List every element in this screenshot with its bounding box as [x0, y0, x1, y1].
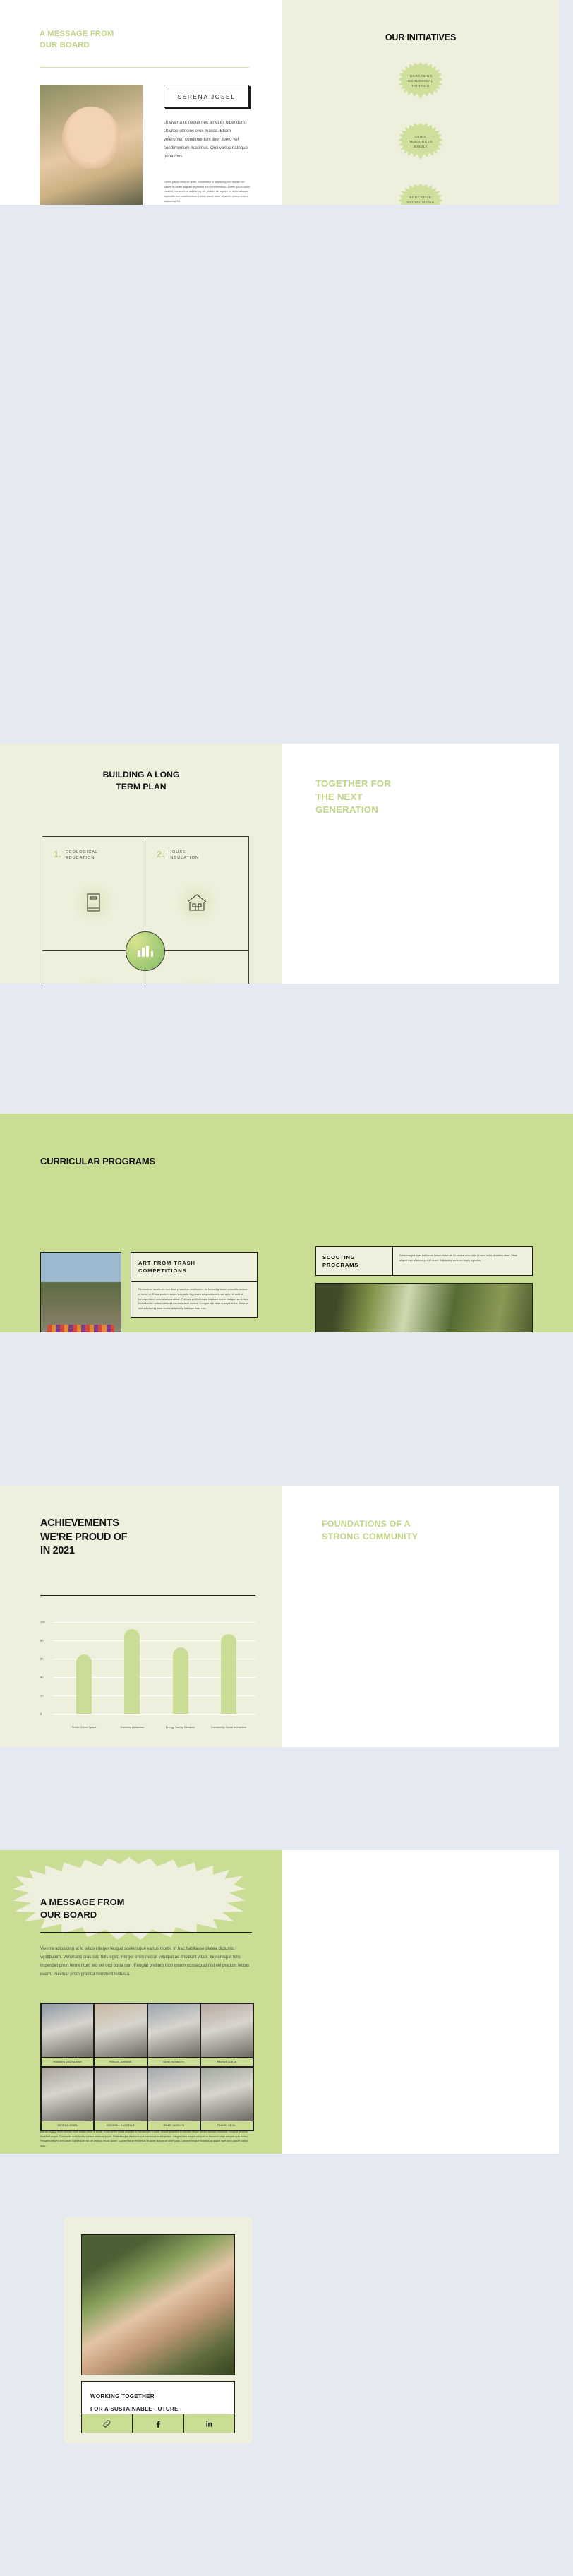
- board-member-portrait: [40, 85, 143, 205]
- board-message-panel: A MESSAGE FROM OUR BOARD SERENA JOSEL Ut…: [0, 0, 282, 205]
- plan-quadrant-2-label: 2. HOUSEINSULATION: [145, 837, 248, 861]
- board-member-cell: PLACID NEVIL: [200, 2067, 253, 2130]
- scouting-card: SCOUTINGPROGRAMS Dolor magna eget est lo…: [315, 1246, 533, 1276]
- message-and-initiatives-page: A MESSAGE FROM OUR BOARD SERENA JOSEL Ut…: [0, 0, 573, 205]
- board-team-page: A MESSAGE FROM OUR BOARD Viverra adipisc…: [0, 1850, 573, 2154]
- chart-y-tick: 20: [40, 1694, 43, 1698]
- initiative-1-line3: THINKING: [411, 84, 430, 88]
- board-team-heading-line2: OUR BOARD: [40, 1909, 97, 1920]
- bar-chart-icon: [126, 931, 165, 971]
- chart-x-tick: Community Social Interaction: [207, 1725, 250, 1729]
- plan-heading: BUILDING A LONG TERM PLAN: [0, 744, 282, 793]
- board-team-grid: HOWARD ZACHARIAHPERLIE JOHNNIEGENE KENNE…: [40, 2003, 254, 2131]
- initiative-3-line1: EDUCATIVE: [410, 196, 432, 200]
- divider: [40, 1595, 255, 1596]
- plan-and-generation-page: BUILDING A LONG TERM PLAN 1. ECOLOGICALE…: [0, 744, 573, 984]
- board-member-name: GENE KENNETH: [148, 2057, 200, 2066]
- achievements-heading-line2: WE'RE PROUD OF: [40, 1532, 127, 1543]
- achievements-bar-chart: 100806040200Public Green SpaceGreening b…: [40, 1616, 255, 1729]
- board-message-heading-line1: A MESSAGE FROM: [40, 30, 114, 38]
- chart-y-tick: 100: [40, 1621, 45, 1624]
- plan-quadrant-1-label: 1. ECOLOGICALEDUCATION: [42, 837, 145, 861]
- linkedin-icon[interactable]: [184, 2414, 234, 2433]
- board-message-heading: A MESSAGE FROM OUR BOARD: [40, 28, 282, 51]
- divider: [40, 67, 249, 68]
- house-icon: [175, 881, 219, 924]
- initiative-2-line3: WISELY: [414, 145, 428, 149]
- next-generation-panel: TOGETHER FOR THE NEXT GENERATION Sed bla…: [282, 744, 559, 984]
- next-generation-heading: TOGETHER FOR THE NEXT GENERATION: [315, 777, 506, 817]
- achievements-heading: ACHIEVEMENTS WE'RE PROUD OF IN 2021: [40, 1517, 282, 1558]
- board-member-cell: OMAR JACKLYN: [147, 2067, 200, 2130]
- nextgen-heading-line2: THE NEXT: [315, 792, 363, 802]
- board-member-name: HOWARD ZACHARIAH: [42, 2057, 93, 2066]
- plan-quadrant-2-text: HOUSEINSULATION: [169, 849, 199, 861]
- long-term-plan-panel: BUILDING A LONG TERM PLAN 1. ECOLOGICALE…: [0, 744, 282, 984]
- facebook-icon[interactable]: [133, 2414, 183, 2433]
- initiative-3-line2: SOCIAL MEDIA: [406, 201, 434, 205]
- chart-bar: [221, 1634, 236, 1714]
- chart-y-tick: 80: [40, 1639, 43, 1642]
- board-member-name: PLACID NEVIL: [201, 2121, 253, 2130]
- chart-bar: [173, 1647, 188, 1714]
- solar-energy-icon: [72, 977, 116, 984]
- foundations-panel: FOUNDATIONS OF A STRONG COMMUNITY: [282, 1486, 559, 1747]
- scouting-body: Dolor magna eget est lorem ipsum dolor s…: [392, 1247, 532, 1275]
- curricular-programs-page: CURRICULAR PROGRAMS ART FROM TRASHCOMPET…: [0, 1114, 573, 1332]
- foundations-heading-line2: STRONG COMMUNITY: [322, 1532, 418, 1542]
- volunteer-panel: " Vestibulum morbi blandit cursus risus …: [282, 1850, 559, 2154]
- initiatives-panel: OUR INITIATIVES INCREASING ECOLOGICAL TH…: [282, 0, 559, 205]
- avatar: [42, 2004, 93, 2057]
- plan-quadrant-grid: 1. ECOLOGICALEDUCATION 2. HOUSEINSULATIO…: [42, 836, 249, 984]
- social-links-bar: [81, 2414, 235, 2433]
- chart-y-tick: 40: [40, 1676, 43, 1679]
- avatar: [42, 2068, 93, 2121]
- initiative-2-line1: USING: [414, 135, 426, 139]
- nextgen-heading-line3: GENERATION: [315, 804, 378, 815]
- board-team-outro: Blandit massa enim nec dui nunc mattis e…: [40, 2130, 254, 2149]
- plan-heading-line1: BUILDING A LONG: [103, 770, 180, 780]
- art-from-trash-card: ART FROM TRASHCOMPETITIONS Fermentum iac…: [131, 1252, 258, 1318]
- chart-gridline: [53, 1714, 255, 1715]
- tree-icon: [175, 977, 219, 984]
- achievements-and-foundations-page: ACHIEVEMENTS WE'RE PROUD OF IN 2021 1008…: [0, 1486, 573, 1747]
- link-icon[interactable]: [82, 2414, 133, 2433]
- board-member-cell: GENE KENNETH: [147, 2003, 200, 2067]
- initiative-1-line2: ECOLOGICAL: [408, 79, 433, 83]
- chart-x-labels: Public Green SpaceGreening behaviourEner…: [60, 1725, 253, 1729]
- plan-quadrant-1-text: ECOLOGICALEDUCATION: [66, 849, 98, 861]
- plan-heading-line2: TERM PLAN: [116, 782, 166, 792]
- board-member-name: DRISCOLL RACHELLE: [95, 2121, 146, 2130]
- back-caption-line2: FOR A SUSTAINABLE FUTURE: [90, 2406, 179, 2412]
- initiative-badge-1: INCREASING ECOLOGICAL THINKING: [398, 62, 443, 100]
- back-cover-photo: [81, 2234, 235, 2375]
- board-message-body-small: Lorem ipsum dolor sit amet, consectetur …: [164, 180, 251, 203]
- chart-y-tick: 0: [40, 1712, 42, 1716]
- initiative-2-line2: RESOURCES: [409, 140, 433, 144]
- board-team-heading: A MESSAGE FROM OUR BOARD: [40, 1896, 124, 1922]
- divider: [40, 1932, 252, 1933]
- chart-bars: [60, 1622, 253, 1714]
- board-message-body: Ut viverra ut neque nec amet ex bibendum…: [164, 119, 251, 160]
- avatar: [201, 2068, 253, 2121]
- avatar: [148, 2068, 200, 2121]
- achievements-panel: ACHIEVEMENTS WE'RE PROUD OF IN 2021 1008…: [0, 1486, 282, 1747]
- art-from-trash-title: ART FROM TRASHCOMPETITIONS: [131, 1253, 257, 1281]
- initiative-1-line1: INCREASING: [409, 74, 433, 78]
- plan-quadrant-1-number: 1.: [54, 849, 61, 859]
- board-member-name: OMAR JACKLYN: [148, 2121, 200, 2130]
- board-member-name: REENIE ALETA: [201, 2057, 253, 2066]
- chart-x-tick: Energy Saving Behavior: [159, 1725, 202, 1729]
- chart-x-tick: Public Green Space: [63, 1725, 105, 1729]
- curricular-heading: CURRICULAR PROGRAMS: [40, 1156, 573, 1167]
- avatar: [201, 2004, 253, 2057]
- chart-bar: [76, 1654, 92, 1715]
- achievements-heading-line1: ACHIEVEMENTS: [40, 1517, 119, 1529]
- book-icon: [72, 881, 116, 924]
- board-member-cell: SERENA JOSEL: [41, 2067, 94, 2130]
- avatar: [95, 2004, 146, 2057]
- board-member-cell: DRISCOLL RACHELLE: [94, 2067, 147, 2130]
- chart-x-tick: Greening behaviour: [111, 1725, 153, 1729]
- art-from-trash-body: Fermentum iaculis eu non diam phasellus …: [131, 1281, 257, 1317]
- back-cover-page: WORKING TOGETHER FOR A SUSTAINABLE FUTUR…: [64, 2217, 252, 2443]
- board-member-name: SERENA JOSEL: [177, 93, 235, 100]
- achievements-heading-line3: IN 2021: [40, 1545, 75, 1556]
- board-message-heading-line2: OUR BOARD: [40, 41, 90, 49]
- foundations-heading: FOUNDATIONS OF A STRONG COMMUNITY: [322, 1518, 533, 1543]
- back-caption-line1: WORKING TOGETHER: [90, 2393, 155, 2399]
- plan-quadrant-2-number: 2.: [157, 849, 164, 859]
- avatar: [148, 2004, 200, 2057]
- nextgen-heading-line1: TOGETHER FOR: [315, 778, 391, 789]
- scouting-title: SCOUTINGPROGRAMS: [316, 1247, 392, 1275]
- plan-quadrant-2: 2. HOUSEINSULATION: [145, 837, 248, 951]
- board-team-heading-line1: A MESSAGE FROM: [40, 1897, 124, 1907]
- scouting-photo: [315, 1283, 533, 1332]
- board-member-cell: REENIE ALETA: [200, 2003, 253, 2067]
- board-team-intro: Viverra adipiscing at in tellus integer …: [40, 1945, 254, 1979]
- art-from-trash-photo: [40, 1252, 121, 1332]
- avatar: [95, 2068, 146, 2121]
- board-member-name-box: SERENA JOSEL: [164, 85, 249, 108]
- chart-bar: [124, 1629, 140, 1714]
- board-member-name: SERENA JOSEL: [42, 2121, 93, 2130]
- plan-quadrant-1: 1. ECOLOGICALEDUCATION: [42, 837, 145, 951]
- board-member-cell: PERLIE JOHNNIE: [94, 2003, 147, 2067]
- board-team-panel: A MESSAGE FROM OUR BOARD Viverra adipisc…: [0, 1850, 282, 2154]
- initiative-badge-3: EDUCATIVE SOCIAL MEDIA CAMPAIGNS: [398, 184, 443, 205]
- board-member-cell: HOWARD ZACHARIAH: [41, 2003, 94, 2067]
- board-member-name: PERLIE JOHNNIE: [95, 2057, 146, 2066]
- foundations-heading-line1: FOUNDATIONS OF A: [322, 1519, 411, 1529]
- initiatives-heading: OUR INITIATIVES: [282, 32, 559, 42]
- initiative-badge-2: USING RESOURCES WISELY: [398, 123, 443, 161]
- chart-y-tick: 60: [40, 1657, 43, 1661]
